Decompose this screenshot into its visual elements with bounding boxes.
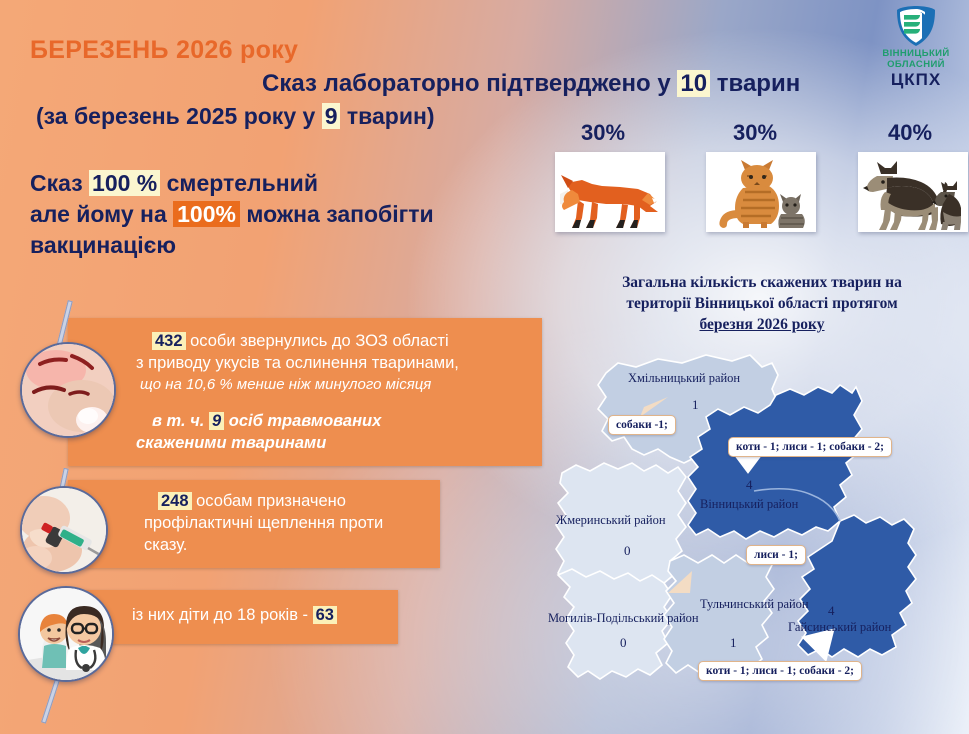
panel1-line-2: з приводу укусів та ослинення тваринами, (136, 352, 528, 374)
map-shapes (540, 345, 969, 715)
callout-khmilnytskyi: собаки -1; (608, 415, 676, 435)
previous-year-count: 9 (322, 103, 341, 129)
district-label-vinnytskyi: Вінницький район (700, 497, 798, 512)
district-label-tulchynskyi: Тульчинський район (700, 597, 809, 612)
panel3-line1-prefix: із них діти до 18 років - (132, 606, 313, 624)
mortality-100-percent-orange: 100% (173, 201, 240, 227)
dog-image (858, 152, 968, 232)
district-label-zhmerynskyi: Жмеринський район (556, 513, 666, 528)
logo-line-3: ЦКПХ (868, 71, 964, 88)
lab-confirmed-line: Сказ лабораторно підтверджено у 10 твари… (262, 70, 800, 98)
mortality-line-3: вакцинацією (30, 230, 434, 261)
district-label-khmilnytskyi: Хмільницький район (628, 371, 740, 386)
district-count-mohyliv-podilskyi: 0 (620, 635, 627, 651)
mortality-100-percent-pale: 100 % (89, 170, 160, 196)
bite-wound-photo (20, 342, 116, 438)
mortality-line-1: Сказ 100 % смертельний (30, 168, 434, 199)
panel1-line-5: скаженими тваринами (136, 432, 528, 454)
magnifier-handle-3 (41, 678, 60, 723)
logo-line-1: ВІННИЦЬКИЙ (868, 48, 964, 59)
panel-bites: 432 особи звернулись до ЗОЗ області з пр… (68, 318, 542, 466)
panel2-line-2: профілактичні щеплення проти (144, 512, 426, 534)
cat-percent: 30% (700, 120, 810, 146)
map-title: Загальна кількість скажених тварин на те… (572, 272, 952, 335)
panel3-line-1: із них діти до 18 років - 63 (132, 604, 384, 626)
previous-year-line: (за березень 2025 року у 9 тварин) (36, 103, 435, 130)
district-label-mohyliv-podilskyi: Могилів-Подільський район (548, 611, 699, 626)
panel1-line-3: що на 10,6 % менше ніж минулого місяця (140, 374, 528, 396)
map-title-line-3: березня 2026 року (572, 314, 952, 335)
mortality-line-2: але йому на 100% можна запобігти (30, 199, 434, 230)
fox-icon (558, 160, 662, 232)
panel1-line1-text: особи звернулись до ЗОЗ області (186, 332, 449, 350)
map-title-line-1: Загальна кількість скажених тварин на (572, 272, 952, 293)
lab-confirmed-prefix: Сказ лабораторно підтверджено у (262, 70, 677, 97)
lab-confirmed-suffix: тварин (710, 70, 800, 97)
panel1-line-1: 432 особи звернулись до ЗОЗ області (152, 330, 528, 352)
previous-year-suffix: тварин) (340, 103, 434, 129)
doctor-child-icon (18, 586, 114, 682)
callout-haisynskyi: коти - 1; лиси - 1; собаки - 2; (698, 661, 862, 681)
panel3-count-63: 63 (313, 606, 337, 624)
mortality-line2-prefix: але йому на (30, 201, 173, 227)
callout-vinnytskyi: коти - 1; лиси - 1; собаки - 2; (728, 437, 892, 457)
callout-tulchynskyi: лиси - 1; (746, 545, 806, 565)
panel2-line-1: 248 особам призначено (158, 490, 426, 512)
panel1-line-4: в т. ч. 9 осіб травмованих (152, 410, 528, 432)
cat-image (706, 152, 816, 232)
district-count-khmilnytskyi: 1 (692, 397, 699, 413)
page-title: БЕРЕЗЕНЬ 2026 року (30, 36, 298, 65)
panel2-line1-text: особам призначено (192, 492, 346, 510)
mortality-line2-suffix: можна запобігти (240, 201, 434, 227)
panel2-count-248: 248 (158, 492, 192, 510)
dog-icon (861, 158, 965, 232)
district-count-vinnytskyi: 4 (746, 477, 753, 493)
mortality-line1-prefix: Сказ (30, 170, 89, 196)
infographic-root: БЕРЕЗЕНЬ 2026 року Сказ лабораторно підт… (0, 0, 969, 734)
mortality-block: Сказ 100 % смертельний але йому на 100% … (30, 168, 434, 261)
panel1-count-9: 9 (209, 412, 224, 430)
panel1-line4-prefix: в т. ч. (152, 412, 209, 430)
previous-year-prefix: (за березень 2025 року у (36, 103, 322, 129)
district-label-haisynskyi: Гайсинський район (788, 620, 891, 635)
panel1-count-432: 432 (152, 332, 186, 350)
organization-logo: ВІННИЦЬКИЙ ОБЛАСНИЙ ЦКПХ (868, 4, 964, 82)
district-count-haisynskyi: 4 (828, 603, 835, 619)
panel1-line4-suffix: осіб травмованих (224, 412, 381, 430)
fox-image (555, 152, 665, 232)
dog-percent: 40% (855, 120, 965, 146)
district-count-zhmerynskyi: 0 (624, 543, 631, 559)
logo-line-2: ОБЛАСНИЙ (868, 59, 964, 70)
mortality-line1-suffix: смертельний (160, 170, 318, 196)
lab-confirmed-count: 10 (677, 70, 710, 97)
map-title-line-2: території Вінницької області протягом (572, 293, 952, 314)
panel-vaccination: 248 особам призначено профілактичні щепл… (68, 480, 440, 568)
vinnytsia-region-map: Хмільницький район 1 Жмеринський район 0… (540, 345, 969, 715)
cat-icon (709, 158, 813, 232)
district-count-tulchynskyi: 1 (730, 635, 737, 651)
shield-icon (868, 4, 964, 48)
panel2-line-3: сказу. (144, 534, 426, 556)
syringe-photo (20, 486, 108, 574)
fox-percent: 30% (548, 120, 658, 146)
